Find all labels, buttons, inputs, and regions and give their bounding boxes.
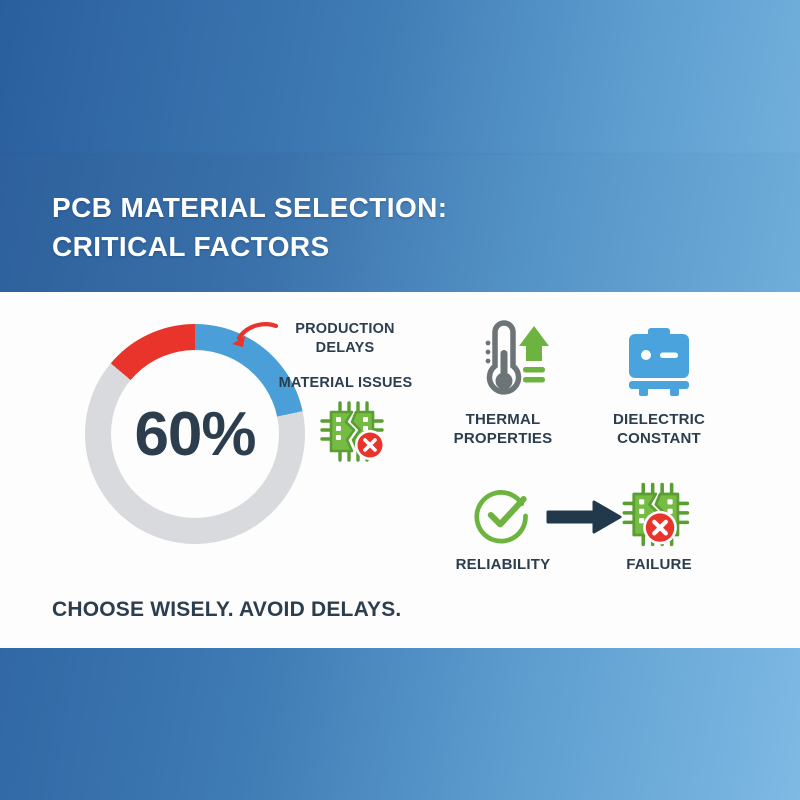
- feature-thermal-caption-line-2: PROPERTIES: [428, 429, 578, 448]
- flow-failure-caption: FAILURE: [584, 556, 734, 573]
- thermometer-up-icon: [428, 318, 578, 406]
- reliability-failure-flow: RELIABILITY: [428, 478, 738, 588]
- feature-dielectric-caption-line-2: CONSTANT: [584, 429, 734, 448]
- broken-chip-error-icon: [584, 478, 734, 552]
- feature-thermal-caption: THERMAL PROPERTIES: [428, 410, 578, 448]
- callout-material-issues: MATERIAL ISSUES: [268, 375, 423, 391]
- callout-production-line-1: PRODUCTION: [295, 321, 394, 337]
- capacitor-icon: [584, 318, 734, 406]
- callout-production-line-2: DELAYS: [316, 340, 375, 356]
- page-title-line-1: PCB MATERIAL SELECTION:: [52, 189, 712, 228]
- content-card: 60% PRODUCTION DELAYS MATERIAL ISSUES: [0, 292, 800, 648]
- flow-item-failure: FAILURE: [584, 478, 734, 573]
- infographic-canvas: PCB MATERIAL SELECTION: CRITICAL FACTORS…: [0, 0, 800, 800]
- title-banner: PCB MATERIAL SELECTION: CRITICAL FACTORS: [0, 155, 800, 292]
- page-title-line-2: CRITICAL FACTORS: [52, 228, 712, 267]
- callout-production-delays: PRODUCTION DELAYS: [270, 320, 420, 357]
- broken-chip-error-icon: [316, 399, 394, 465]
- tagline: CHOOSE WISELY. AVOID DELAYS.: [52, 598, 401, 622]
- flow-reliability-caption: RELIABILITY: [428, 556, 578, 573]
- feature-thermal-caption-line-1: THERMAL: [428, 410, 578, 429]
- feature-dielectric-constant: DIELECTRIC CONSTANT: [584, 318, 734, 448]
- feature-dielectric-caption-line-1: DIELECTRIC: [584, 410, 734, 429]
- curved-arrow-icon: [228, 318, 280, 358]
- feature-dielectric-caption: DIELECTRIC CONSTANT: [584, 410, 734, 448]
- feature-thermal-properties: THERMAL PROPERTIES: [428, 318, 578, 448]
- page-title: PCB MATERIAL SELECTION: CRITICAL FACTORS: [52, 189, 712, 266]
